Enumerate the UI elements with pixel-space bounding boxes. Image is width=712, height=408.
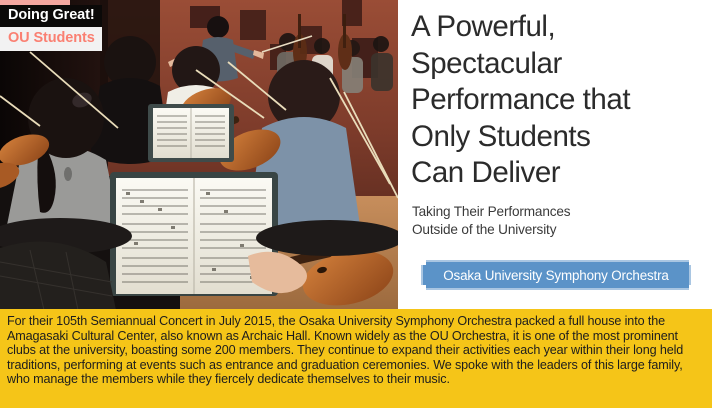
music-stand-mid — [148, 104, 234, 162]
badge-eyebrow: Doing Great! — [0, 5, 102, 27]
article-summary-band: For their 105th Semiannual Concert in Ju… — [0, 309, 712, 408]
orchestra-group-label: Osaka University Symphony Orchestra — [443, 268, 668, 283]
badge-stack: Doing Great! OU Students — [0, 0, 102, 51]
orchestra-group-button[interactable]: Osaka University Symphony Orchestra — [421, 260, 691, 290]
article-hero-card: Doing Great! OU Students A Powerful, Spe… — [0, 0, 712, 408]
page-title: A Powerful, Spectacular Performance that… — [411, 9, 711, 192]
hero-photo: Doing Great! OU Students — [0, 0, 398, 310]
article-body-text: For their 105th Semiannual Concert in Ju… — [0, 309, 712, 387]
subheading: Taking Their Performances Outside of the… — [412, 203, 712, 238]
badge-category: OU Students — [0, 27, 102, 51]
